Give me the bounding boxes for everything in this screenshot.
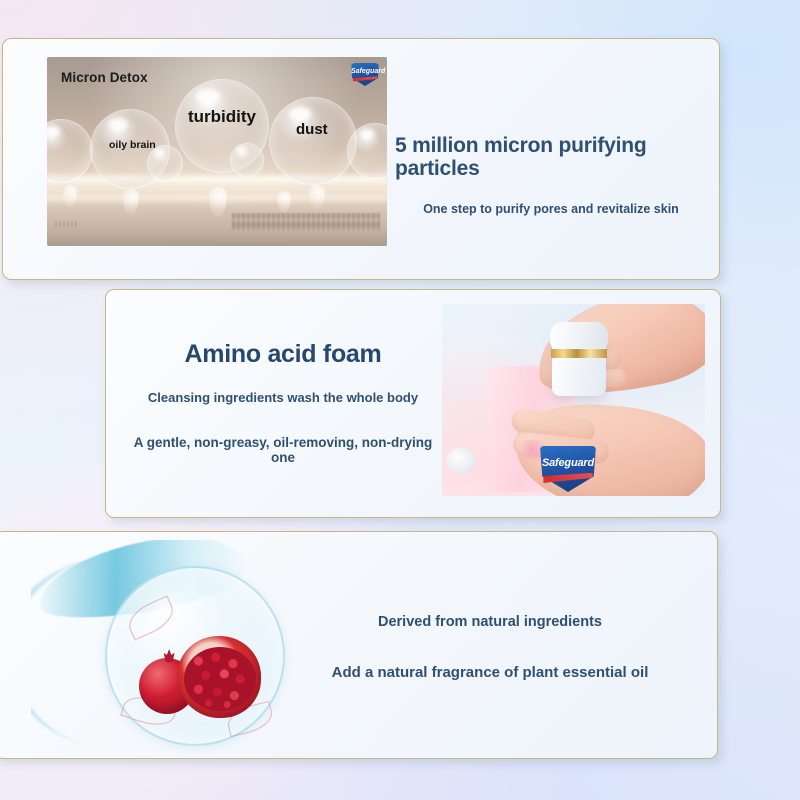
safeguard-shield-logo: Safeguard (351, 63, 379, 86)
foam-pump-jar (552, 334, 606, 396)
image-corner-note (55, 221, 79, 227)
panel-subheading: One step to purify pores and revitalize … (395, 202, 707, 216)
jar-gold-band (551, 349, 607, 358)
hands-with-foam-pump-photo: Safeguard (442, 304, 705, 496)
panel-line-one: Derived from natural ingredients (325, 614, 655, 630)
droplet-a (63, 185, 77, 207)
panel-line-one: Cleansing ingredients wash the whole bod… (120, 390, 446, 405)
droplet-b (123, 189, 139, 215)
pump-knob (446, 448, 476, 474)
jar-lid (550, 322, 608, 348)
shield-wordmark: Safeguard (351, 68, 379, 75)
panel-line-two: Add a natural fragrance of plant essenti… (325, 664, 655, 681)
panel-heading: 5 million micron purifying particles (395, 134, 707, 180)
micron-detox-bubbles-photo: Micron Detox oily brain turbidity dust S… (47, 57, 387, 246)
bubble-dust (269, 97, 357, 185)
pomegranate-seeds (184, 647, 256, 711)
panel-micron-detox[interactable]: Micron Detox oily brain turbidity dust S… (2, 38, 720, 280)
shield-body (540, 446, 596, 492)
droplet-c (209, 187, 227, 217)
droplet-d (277, 191, 291, 213)
panel-natural-copy: Derived from natural ingredients Add a n… (325, 614, 655, 681)
panel-line-two: A gentle, non-greasy, oil-removing, non-… (120, 435, 446, 465)
panel-amino-acid-foam[interactable]: Amino acid foam Cleansing ingredients wa… (105, 289, 721, 518)
panel-natural-ingredients[interactable]: Derived from natural ingredients Add a n… (0, 531, 718, 759)
panel-heading: Amino acid foam (120, 340, 446, 369)
panel-micron-detox-copy: 5 million micron purifying particles One… (395, 134, 707, 216)
bubble-tag-dust: dust (296, 121, 328, 138)
panel-amino-copy: Amino acid foam Cleansing ingredients wa… (120, 340, 446, 465)
pomegranate-halved (177, 636, 261, 718)
bubble-tag-oily-brain: oily brain (109, 139, 156, 151)
bubble-small-b (230, 143, 264, 177)
micron-detox-label: Micron Detox (61, 70, 148, 85)
shield-wordmark: Safeguard (540, 458, 596, 469)
safeguard-shield-logo: Safeguard (540, 446, 596, 492)
bubble-tag-turbidity: turbidity (188, 107, 256, 127)
droplet-e (309, 185, 325, 209)
pomegranate-in-water-bubble-illustration (31, 540, 327, 754)
image-footnote-text (232, 213, 380, 230)
